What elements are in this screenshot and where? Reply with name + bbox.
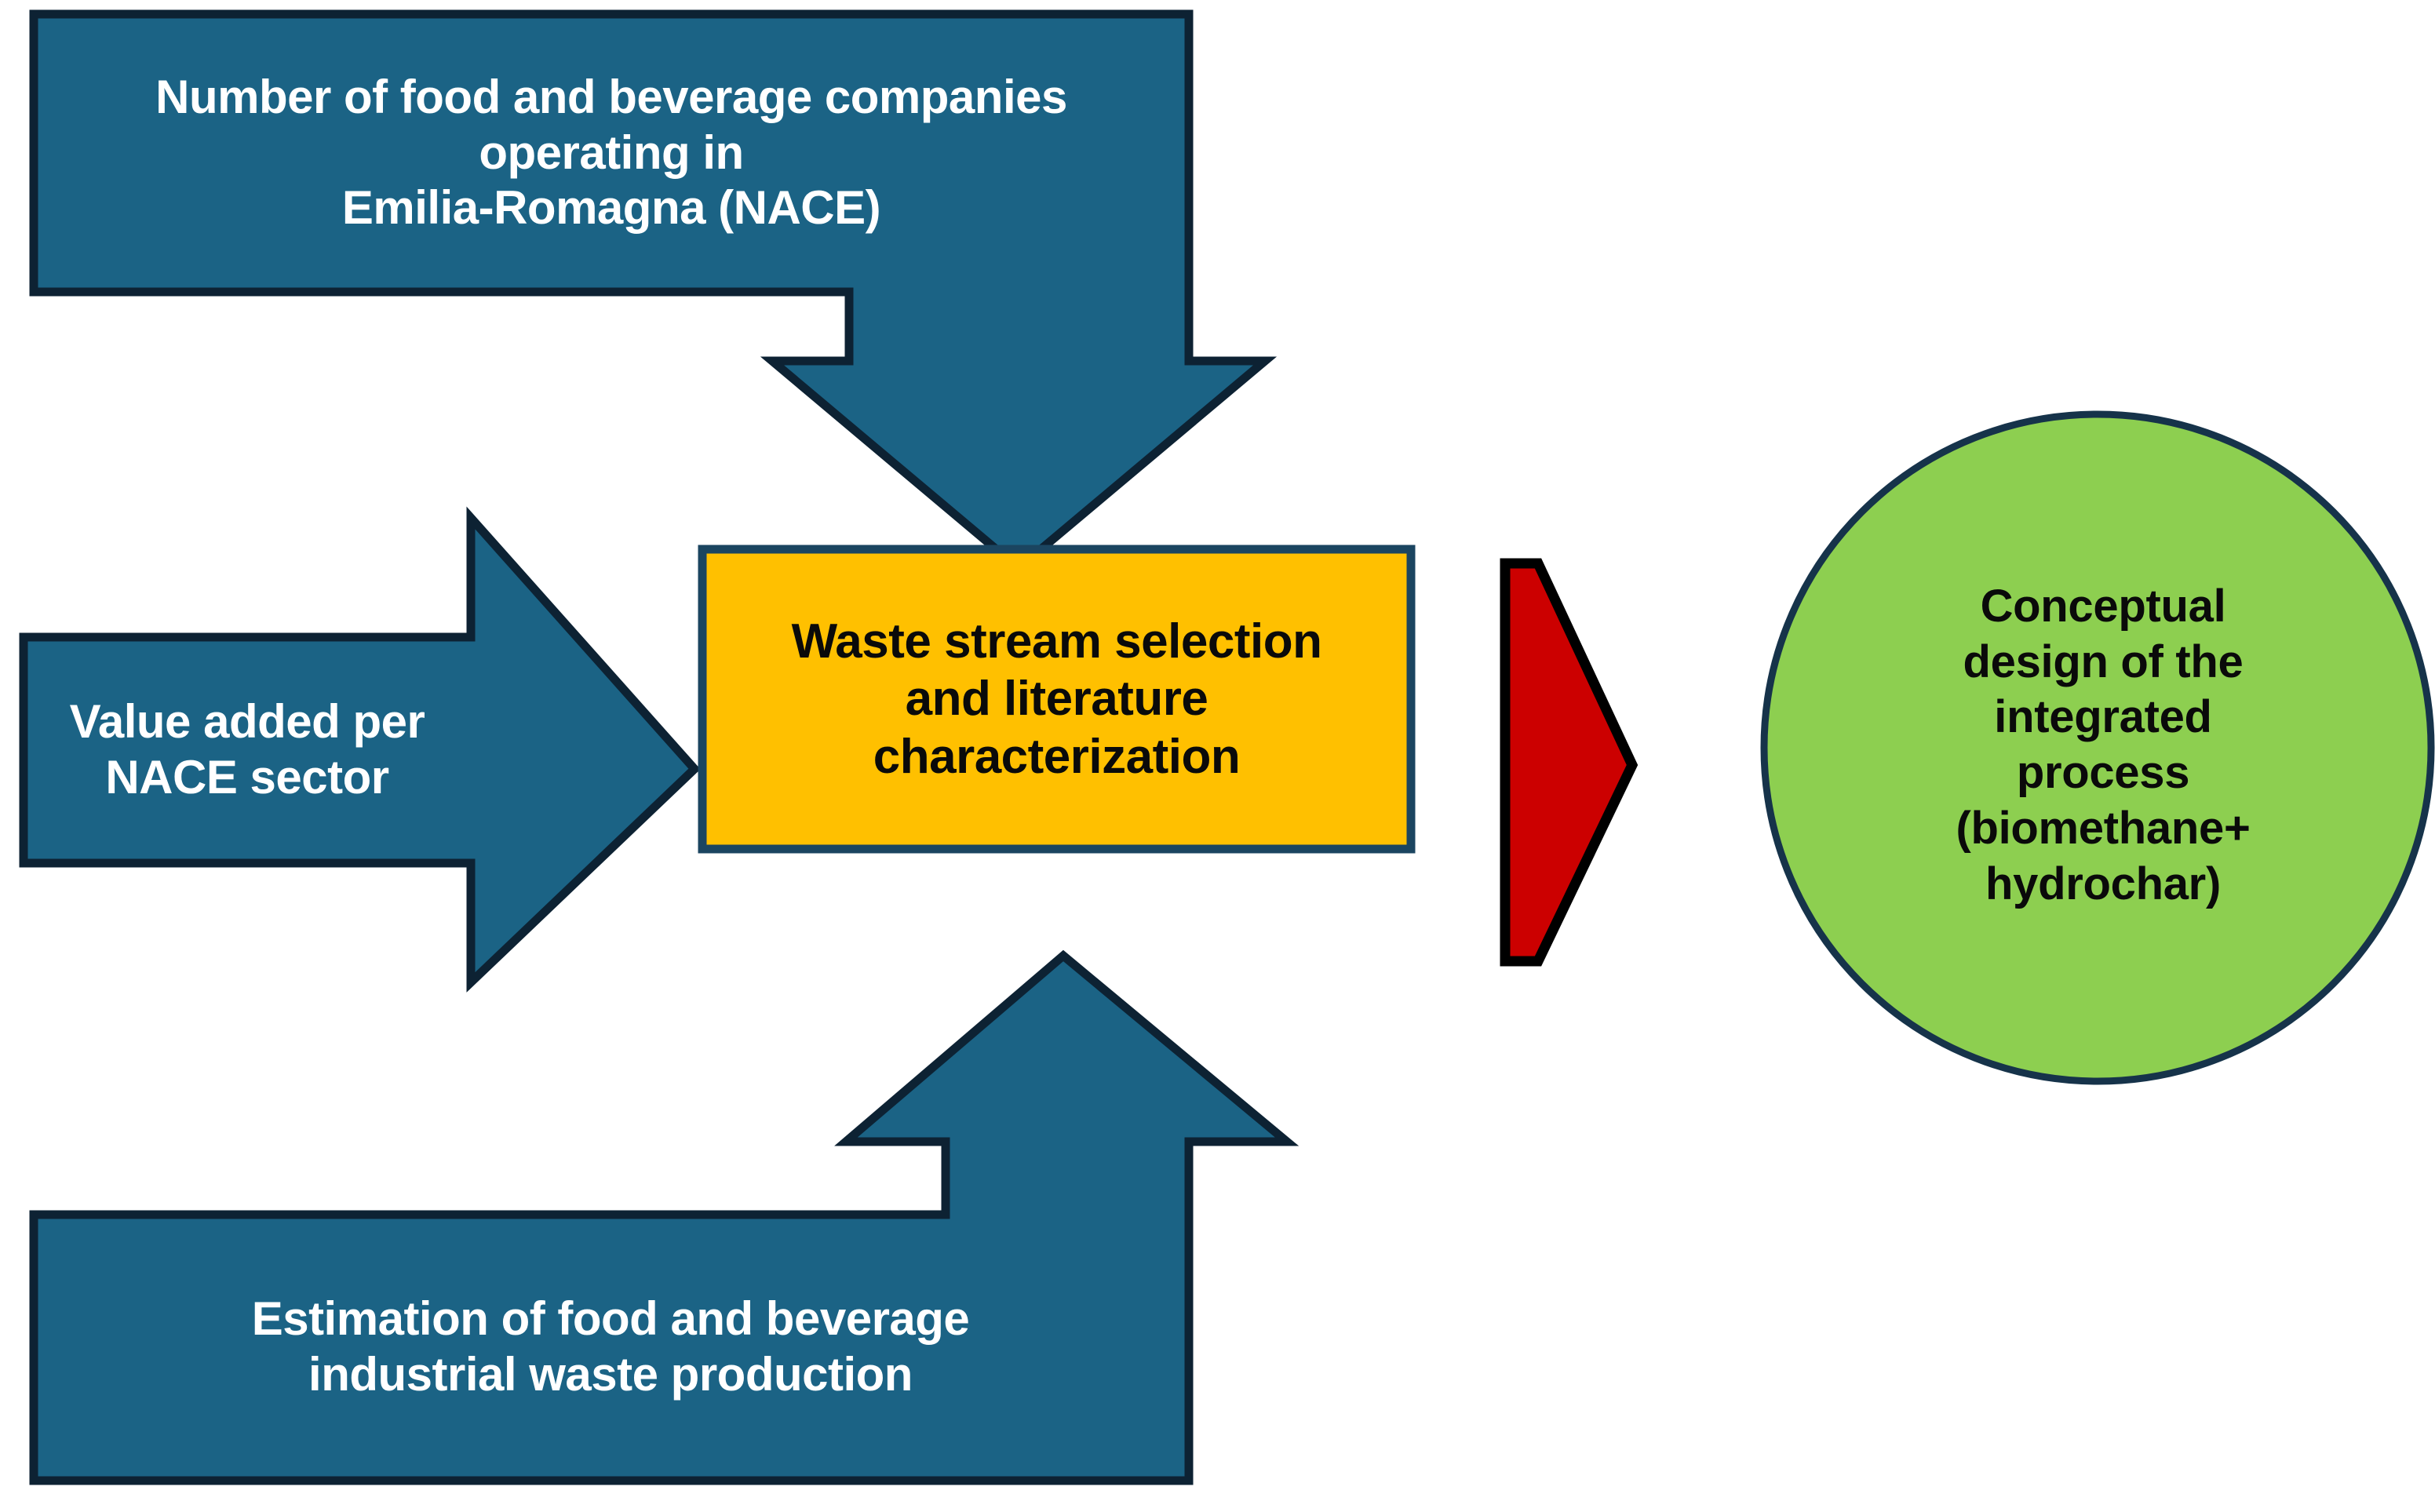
left-input-shape[interactable] — [24, 518, 694, 982]
output-shape[interactable] — [1764, 414, 2431, 1081]
bottom-input-shape[interactable] — [34, 956, 1287, 1481]
top-input-shape[interactable] — [34, 14, 1265, 568]
diagram-shapes-layer — [0, 0, 2435, 1512]
diagram-canvas: Number of food and beverage companies op… — [0, 0, 2435, 1512]
connector-shape[interactable] — [1505, 563, 1632, 961]
center-process-shape[interactable] — [702, 549, 1411, 849]
